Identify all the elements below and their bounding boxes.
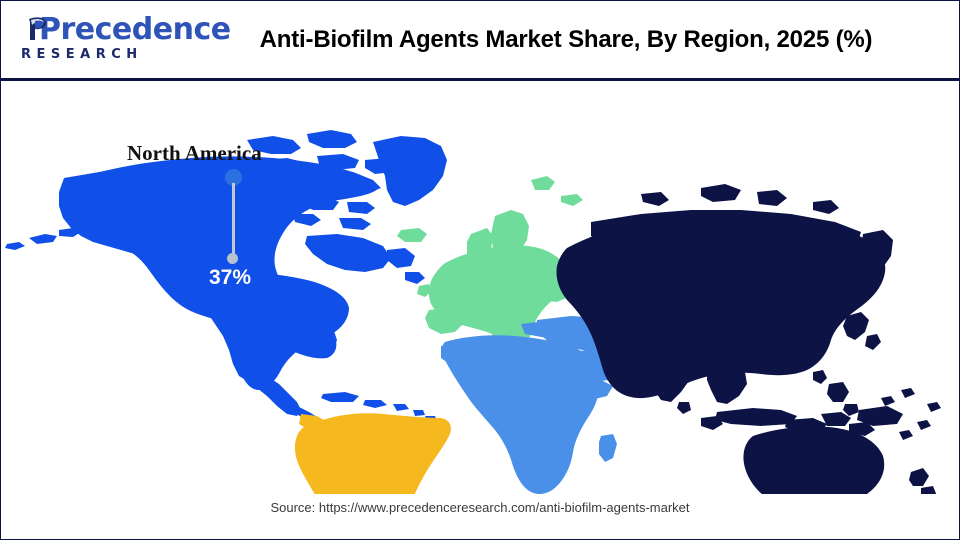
world-map-svg xyxy=(1,84,959,494)
header-bar: Precedence RESEARCH Anti-Biofilm Agents … xyxy=(1,1,959,81)
leaf-p-icon xyxy=(27,16,47,42)
source-link[interactable]: Source: https://www.precedenceresearch.c… xyxy=(270,500,689,515)
world-map-container: North America 37% xyxy=(1,84,959,494)
brand-logo[interactable]: Precedence RESEARCH xyxy=(17,14,167,66)
page-title: Anti-Biofilm Agents Market Share, By Reg… xyxy=(181,1,951,78)
brand-subtitle-text: RESEARCH xyxy=(21,47,143,62)
brand-name-wrap: Precedence xyxy=(17,14,167,46)
map-region-north-america[interactable] xyxy=(5,130,447,430)
infographic-card: Precedence RESEARCH Anti-Biofilm Agents … xyxy=(0,0,960,540)
map-region-latin-america[interactable] xyxy=(295,413,451,494)
brand-subtitle: RESEARCH xyxy=(17,47,167,62)
footer-bar: Source: https://www.precedenceresearch.c… xyxy=(1,499,959,517)
